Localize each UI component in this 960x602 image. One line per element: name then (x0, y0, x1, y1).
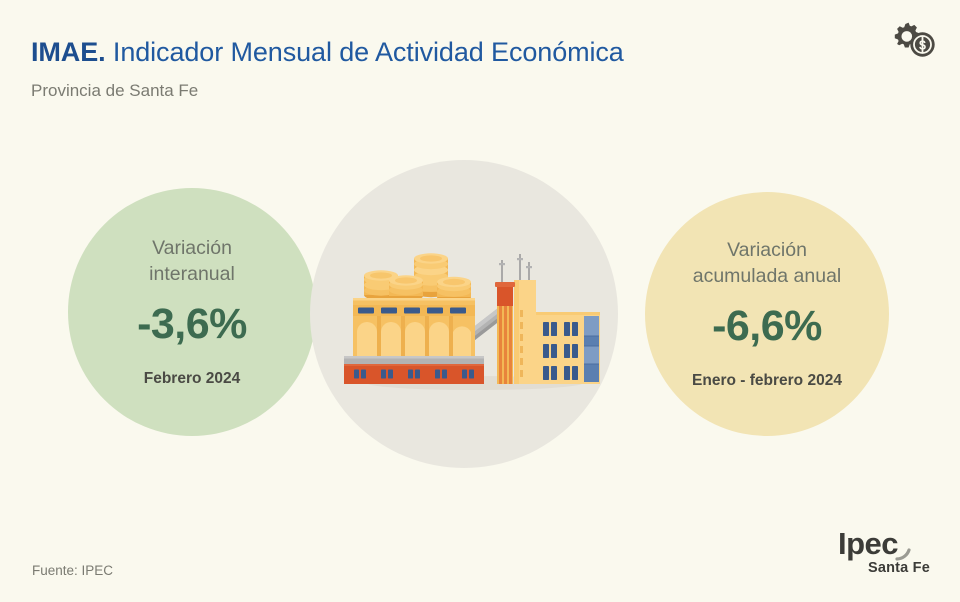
header: IMAE. Indicador Mensual de Actividad Eco… (31, 36, 791, 102)
stat-content: Variación acumulada anual -6,6% Enero - … (645, 237, 889, 391)
factory-silos-coins-illustration (330, 246, 610, 406)
page-title-acronym: IMAE. (31, 37, 106, 67)
ipec-logo: Ipec Santa Fe (806, 526, 932, 584)
source-label: Fuente: IPEC (32, 563, 113, 578)
stat-label-line-2: acumulada anual (653, 263, 881, 289)
stat-label: Variación acumulada anual (653, 237, 881, 289)
gear-coin-icon: $ (892, 16, 940, 64)
stat-value: -3,6% (76, 299, 308, 349)
stat-date: Enero - febrero 2024 (653, 371, 881, 391)
ipec-logo-mark: Ipec (806, 526, 932, 562)
svg-text:Ipec: Ipec (838, 526, 898, 561)
stat-label: Variación interanual (76, 235, 308, 287)
stat-circle-variacion-interanual: Variación interanual -3,6% Febrero 2024 (68, 188, 316, 436)
infographic-canvas: IMAE. Indicador Mensual de Actividad Eco… (0, 0, 960, 602)
page-title-text: Indicador Mensual de Actividad Económica (106, 37, 624, 67)
stat-value: -6,6% (653, 301, 881, 351)
page-subtitle: Provincia de Santa Fe (31, 80, 791, 102)
stat-date: Febrero 2024 (76, 369, 308, 389)
stat-label-line-1: Variación (653, 237, 881, 263)
page-title: IMAE. Indicador Mensual de Actividad Eco… (31, 36, 791, 68)
stat-content: Variación interanual -3,6% Febrero 2024 (68, 235, 316, 389)
stat-label-line-2: interanual (76, 261, 308, 287)
stat-label-line-1: Variación (76, 235, 308, 261)
stat-circle-variacion-acumulada-anual: Variación acumulada anual -6,6% Enero - … (645, 192, 889, 436)
